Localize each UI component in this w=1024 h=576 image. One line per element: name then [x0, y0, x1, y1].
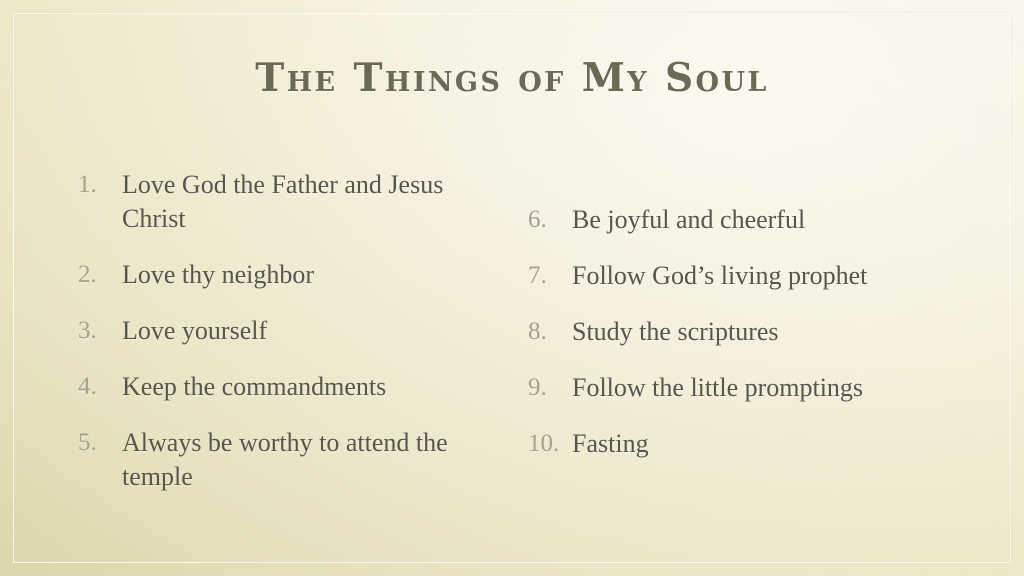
list-item-number: 2. [78, 258, 122, 292]
list-item: 6. Be joyful and cheerful [528, 203, 948, 237]
list-column-left: 1. Love God the Father and Jesus Christ … [78, 168, 498, 494]
list-item-number: 9. [528, 371, 572, 405]
slide-canvas: The Things of My Soul 1. Love God the Fa… [0, 0, 1024, 576]
list-item: 7. Follow God’s living prophet [528, 259, 948, 293]
list-item-number: 10. [528, 427, 572, 461]
list-column-right: 6. Be joyful and cheerful 7. Follow God’… [528, 203, 948, 461]
list-item: 5. Always be worthy to attend the temple [78, 426, 498, 494]
list-item-text: Follow the little promptings [572, 371, 948, 405]
list-item-text: Follow God’s living prophet [572, 259, 948, 293]
list-item-number: 6. [528, 203, 572, 237]
list-item-number: 4. [78, 370, 122, 404]
list-item-text: Fasting [572, 427, 948, 461]
list-item-number: 3. [78, 314, 122, 348]
list-item-text: Love yourself [122, 314, 498, 348]
list-item-text: Be joyful and cheerful [572, 203, 948, 237]
list-item-number: 7. [528, 259, 572, 293]
slide-title: The Things of My Soul [0, 58, 1024, 99]
list-item-number: 5. [78, 426, 122, 460]
list-item-text: Keep the commandments [122, 370, 498, 404]
list-item-number: 8. [528, 315, 572, 349]
list-item-text: Love thy neighbor [122, 258, 498, 292]
list-item-text: Love God the Father and Jesus Christ [122, 168, 498, 236]
list-item: 8. Study the scriptures [528, 315, 948, 349]
list-item-text: Always be worthy to attend the temple [122, 426, 498, 494]
list-item: 1. Love God the Father and Jesus Christ [78, 168, 498, 236]
list-item: 3. Love yourself [78, 314, 498, 348]
list-item-text: Study the scriptures [572, 315, 948, 349]
list-item: 2. Love thy neighbor [78, 258, 498, 292]
list-item: 4. Keep the commandments [78, 370, 498, 404]
list-item: 9. Follow the little promptings [528, 371, 948, 405]
list-item-number: 1. [78, 168, 122, 202]
list-item: 10. Fasting [528, 427, 948, 461]
